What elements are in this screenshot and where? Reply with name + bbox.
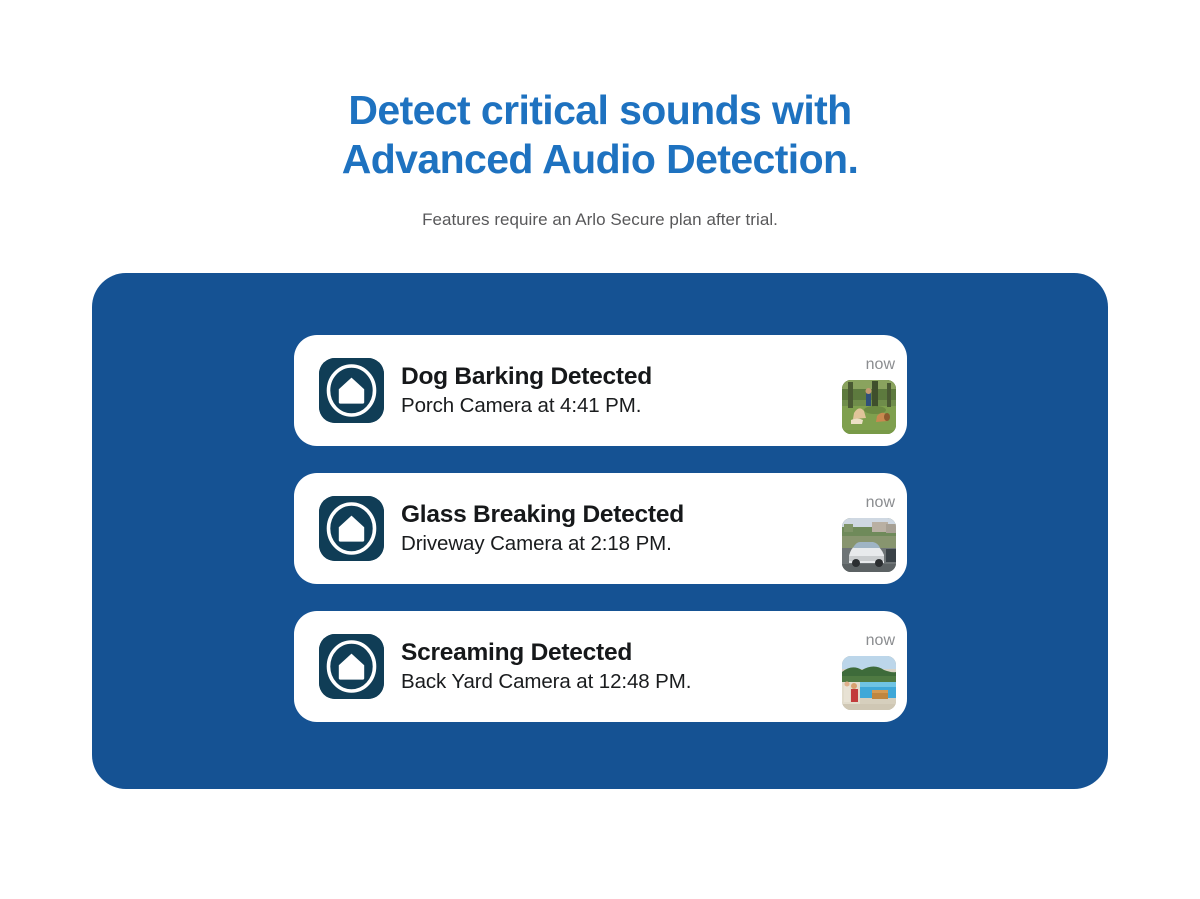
notification-text: Glass Breaking Detected Driveway Camera …	[384, 500, 822, 557]
dogs-on-lawn-thumbnail[interactable]	[842, 380, 896, 434]
arlo-home-icon	[319, 358, 384, 423]
notification-list: Dog Barking Detected Porch Camera at 4:4…	[294, 335, 907, 722]
page-subtitle: Features require an Arlo Secure plan aft…	[0, 184, 1200, 231]
arlo-home-icon	[319, 634, 384, 699]
notification-card[interactable]: Glass Breaking Detected Driveway Camera …	[294, 473, 907, 584]
feature-panel: Dog Barking Detected Porch Camera at 4:4…	[92, 273, 1108, 789]
promo-page: Detect critical sounds with Advanced Aud…	[0, 0, 1200, 899]
notification-title: Glass Breaking Detected	[401, 500, 812, 530]
notification-timestamp: now	[866, 494, 895, 512]
notification-title: Dog Barking Detected	[401, 362, 812, 392]
notification-meta: now	[822, 611, 907, 722]
notification-meta: now	[822, 473, 907, 584]
arlo-home-icon	[319, 496, 384, 561]
page-header: Detect critical sounds with Advanced Aud…	[0, 86, 1200, 231]
notification-subtitle: Back Yard Camera at 12:48 PM.	[401, 668, 812, 695]
page-title-line-2: Advanced Audio Detection.	[0, 135, 1200, 184]
notification-card[interactable]: Screaming Detected Back Yard Camera at 1…	[294, 611, 907, 722]
notification-timestamp: now	[866, 356, 895, 374]
notification-meta: now	[822, 335, 907, 446]
backyard-pool-thumbnail[interactable]	[842, 656, 896, 710]
page-title-line-1: Detect critical sounds with	[0, 86, 1200, 135]
notification-title: Screaming Detected	[401, 638, 812, 668]
notification-subtitle: Driveway Camera at 2:18 PM.	[401, 530, 812, 557]
white-car-driveway-thumbnail[interactable]	[842, 518, 896, 572]
notification-text: Dog Barking Detected Porch Camera at 4:4…	[384, 362, 822, 419]
notification-subtitle: Porch Camera at 4:41 PM.	[401, 392, 812, 419]
notification-timestamp: now	[866, 632, 895, 650]
notification-text: Screaming Detected Back Yard Camera at 1…	[384, 638, 822, 695]
notification-card[interactable]: Dog Barking Detected Porch Camera at 4:4…	[294, 335, 907, 446]
page-title: Detect critical sounds with Advanced Aud…	[0, 86, 1200, 184]
